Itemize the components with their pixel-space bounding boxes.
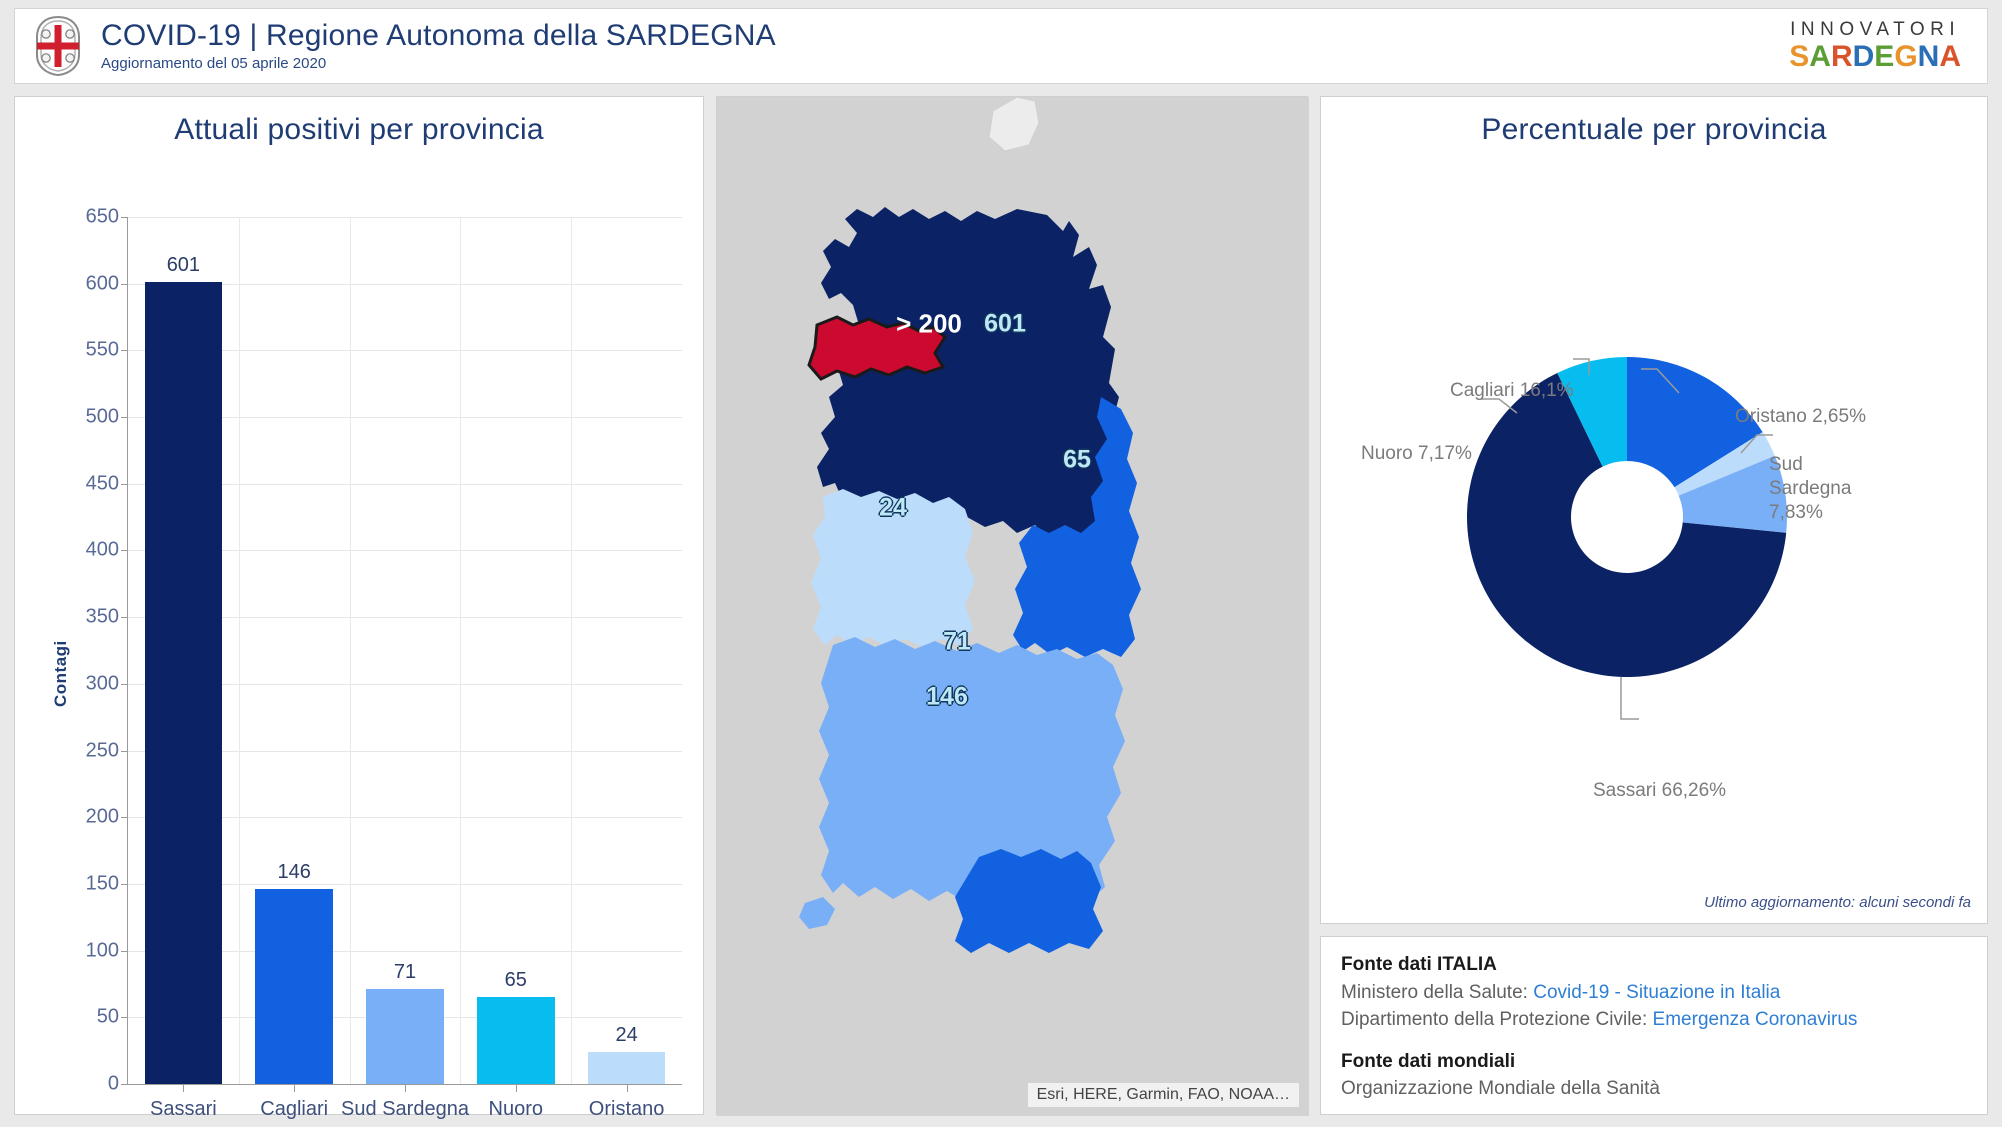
pie-label-sud-sardegna: Sud Sardegna 7,83%: [1769, 453, 1879, 524]
x-gridline: [571, 217, 572, 1084]
bar-chart-panel: Attuali positivi per provincia Contagi 0…: [14, 96, 704, 1115]
x-axis-label-cagliari: Cagliari: [260, 1098, 328, 1121]
page-title: COVID-19 | Regione Autonoma della SARDEG…: [101, 19, 776, 52]
pie-label-sassari: Sassari 66,26%: [1593, 779, 1726, 803]
source-ministry-link[interactable]: Covid-19 - Situazione in Italia: [1533, 982, 1780, 1003]
source-italy-line-1: Ministero della Salute: Covid-19 - Situa…: [1341, 979, 1967, 1007]
pie-label-oristano: Oristano 2,65%: [1735, 405, 1866, 429]
dashboard-root: COVID-19 | Regione Autonoma della SARDEG…: [0, 0, 2002, 1127]
brand-letter-4: E: [1874, 41, 1894, 73]
bar-sud-sardegna[interactable]: 71: [366, 989, 444, 1084]
y-axis-tick-label: 0: [108, 1073, 119, 1096]
x-axis-label-oristano: Oristano: [589, 1098, 665, 1121]
source-ministry-label: Ministero della Salute:: [1341, 982, 1533, 1003]
app-header: COVID-19 | Regione Autonoma della SARDEG…: [14, 8, 1988, 84]
bar-oristano[interactable]: 24: [588, 1052, 666, 1084]
data-sources-body: Fonte dati ITALIA Ministero della Salute…: [1321, 937, 1987, 1117]
bar-chart-area: Contagi 05010015020025030035040045050055…: [15, 147, 705, 1107]
bar-chart-title: Attuali positivi per provincia: [15, 97, 703, 147]
pie-leader-line: [1621, 677, 1639, 719]
y-axis-tick-label: 400: [86, 539, 119, 562]
y-tick-mark: [121, 817, 128, 818]
map-panel[interactable]: > 200 601 65 24 71 146 Esri, HERE, Garmi…: [716, 96, 1308, 1115]
x-axis-label-sud-sardegna: Sud Sardegna: [341, 1098, 469, 1121]
y-tick-mark: [121, 1084, 128, 1085]
y-axis-tick-label: 100: [86, 939, 119, 962]
y-gridline: [128, 217, 682, 218]
y-axis-tick-label: 250: [86, 739, 119, 762]
brand-sardegna-text: SARDEGNA: [1789, 41, 1961, 73]
pie-chart-title: Percentuale per provincia: [1321, 97, 1987, 147]
x-tick-mark: [183, 1084, 184, 1092]
last-updated-text: Ultimo aggiornamento: alcuni secondi fa: [1704, 894, 1971, 911]
y-tick-mark: [121, 1017, 128, 1018]
x-gridline: [350, 217, 351, 1084]
x-tick-mark: [516, 1084, 517, 1092]
page-subtitle: Aggiornamento del 05 aprile 2020: [101, 56, 776, 73]
y-axis-tick-label: 450: [86, 472, 119, 495]
brand-letter-2: R: [1831, 41, 1853, 73]
source-italy-line-2: Dipartimento della Protezione Civile: Em…: [1341, 1006, 1967, 1034]
brand-letter-3: D: [1853, 41, 1875, 73]
source-world-heading: Fonte dati mondiali: [1341, 1048, 1967, 1076]
x-tick-mark: [405, 1084, 406, 1092]
bar-value-label: 601: [167, 254, 200, 277]
y-axis-tick-label: 600: [86, 272, 119, 295]
source-protezione-link[interactable]: Emergenza Coronavirus: [1653, 1009, 1858, 1030]
y-axis-tick-label: 50: [97, 1006, 119, 1029]
source-world-line: Organizzazione Mondiale della Sanità: [1341, 1075, 1967, 1103]
y-axis-tick-label: 150: [86, 872, 119, 895]
x-gridline: [460, 217, 461, 1084]
y-tick-mark: [121, 417, 128, 418]
x-tick-mark: [627, 1084, 628, 1092]
sardinia-choropleth-map[interactable]: > 200 601 65 24 71 146 Esri, HERE, Garmi…: [717, 97, 1307, 1114]
bar-nuoro[interactable]: 65: [477, 997, 555, 1084]
y-axis-tick-label: 500: [86, 406, 119, 429]
y-tick-mark: [121, 951, 128, 952]
bar-chart-y-axis-label: Contagi: [51, 640, 71, 707]
bar-cagliari[interactable]: 146: [255, 889, 333, 1084]
brand-letter-6: N: [1918, 41, 1940, 73]
donut-chart-svg[interactable]: [1321, 217, 1989, 857]
y-axis-tick-label: 550: [86, 339, 119, 362]
bar-value-label: 146: [277, 861, 310, 884]
bar-value-label: 71: [394, 961, 416, 984]
data-sources-panel: Fonte dati ITALIA Ministero della Salute…: [1320, 936, 1988, 1115]
map-region-cagliari[interactable]: [955, 849, 1103, 953]
brand-letter-0: S: [1789, 41, 1809, 73]
y-tick-mark: [121, 484, 128, 485]
y-tick-mark: [121, 550, 128, 551]
pie-label-cagliari: Cagliari 16,1%: [1450, 379, 1574, 403]
y-tick-mark: [121, 884, 128, 885]
sardinia-crest-icon: [29, 15, 87, 77]
innovatori-sardegna-logo: INNOVATORI SARDEGNA: [1785, 18, 1965, 74]
brand-letter-1: A: [1809, 41, 1831, 73]
source-spacer: [1341, 1034, 1967, 1048]
y-axis-tick-label: 300: [86, 672, 119, 695]
brand-letter-7: A: [1939, 41, 1961, 73]
y-tick-mark: [121, 217, 128, 218]
bar-value-label: 65: [505, 969, 527, 992]
y-tick-mark: [121, 350, 128, 351]
y-tick-mark: [121, 684, 128, 685]
bar-sassari[interactable]: 601: [145, 282, 223, 1084]
pie-label-nuoro: Nuoro 7,17%: [1361, 442, 1472, 466]
x-tick-mark: [294, 1084, 295, 1092]
brand-innovatori-text: INNOVATORI: [1789, 20, 1961, 41]
y-tick-mark: [121, 284, 128, 285]
y-tick-mark: [121, 751, 128, 752]
source-italy-heading: Fonte dati ITALIA: [1341, 951, 1967, 979]
bar-value-label: 24: [615, 1024, 637, 1047]
header-title-group: COVID-19 | Regione Autonoma della SARDEG…: [101, 19, 776, 73]
pie-chart-panel: Percentuale per provincia Cagliari 16,1%…: [1320, 96, 1988, 924]
bar-chart-plot: 0501001502002503003504004505005506006506…: [127, 217, 682, 1085]
y-axis-tick-label: 350: [86, 606, 119, 629]
brand-letter-5: G: [1894, 41, 1917, 73]
donut-chart-area: Cagliari 16,1% Oristano 2,65% Sud Sardeg…: [1321, 217, 1989, 857]
x-gridline: [239, 217, 240, 1084]
source-protezione-label: Dipartimento della Protezione Civile:: [1341, 1009, 1653, 1030]
y-axis-tick-label: 200: [86, 806, 119, 829]
y-tick-mark: [121, 617, 128, 618]
y-axis-tick-label: 650: [86, 206, 119, 229]
x-axis-label-sassari: Sassari: [150, 1098, 217, 1121]
map-svg[interactable]: [717, 97, 1309, 1116]
map-region-oristano[interactable]: [811, 489, 975, 647]
x-axis-label-nuoro: Nuoro: [489, 1098, 543, 1121]
map-attribution[interactable]: Esri, HERE, Garmin, FAO, NOAA…: [1028, 1083, 1299, 1107]
